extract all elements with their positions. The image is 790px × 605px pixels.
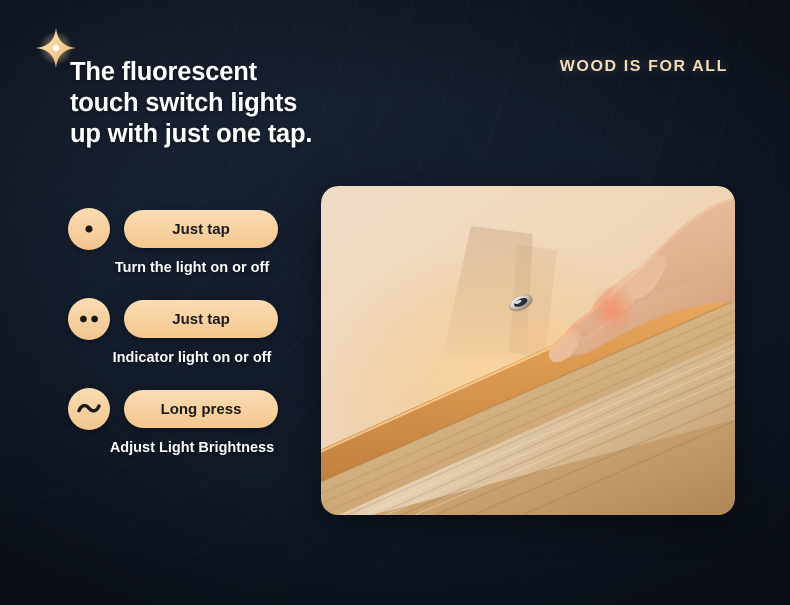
product-photo <box>321 186 735 515</box>
promo-banner: The fluorescent touch switch lights up w… <box>0 0 790 605</box>
feature-caption: Turn the light on or off <box>68 260 316 276</box>
two-dots-icon <box>68 298 110 340</box>
tilde-wave-icon <box>68 388 110 430</box>
action-pill-just-tap-2[interactable]: Just tap <box>124 300 278 338</box>
page-title: The fluorescent touch switch lights up w… <box>70 57 370 150</box>
list-item: Just tap Indicator light on or off <box>68 298 328 366</box>
one-dot-icon <box>68 208 110 250</box>
action-pill-long-press[interactable]: Long press <box>124 390 278 428</box>
brand-tagline: WOOD IS FOR ALL <box>560 58 728 76</box>
list-item: Long press Adjust Light Brightness <box>68 388 328 456</box>
list-item: Just tap Turn the light on or off <box>68 208 328 276</box>
feature-list: Just tap Turn the light on or off Just t… <box>68 208 328 478</box>
feature-caption: Indicator light on or off <box>68 350 316 366</box>
feature-caption: Adjust Light Brightness <box>68 440 316 456</box>
action-pill-just-tap-1[interactable]: Just tap <box>124 210 278 248</box>
